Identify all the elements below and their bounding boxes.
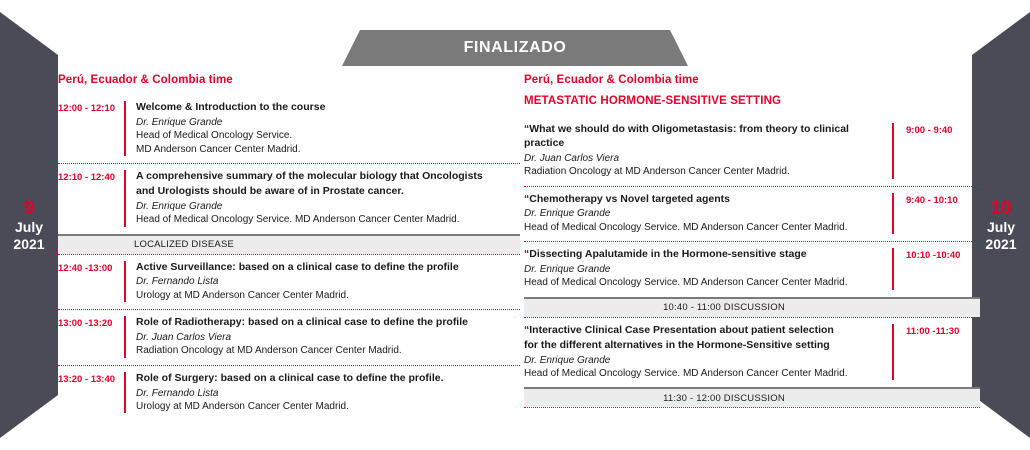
- session-title: Role of Surgery: based on a clinical cas…: [136, 372, 520, 386]
- date-year-right: 2021: [985, 236, 1016, 253]
- session-body: “What we should do with Oligometastasis:…: [524, 123, 892, 179]
- session-time: 9:40 - 10:10: [894, 193, 980, 235]
- session-row[interactable]: “Dissecting Apalutamide in the Hormone-s…: [524, 242, 980, 297]
- session-title: “Interactive Clinical Case Presentation …: [524, 324, 892, 338]
- day1-column: Perú, Ecuador & Colombia time 12:00 - 12…: [58, 74, 520, 420]
- session-body: Role of Radiotherapy: based on a clinica…: [136, 316, 520, 358]
- session-row[interactable]: 13:20 - 13:40 Role of Surgery: based on …: [58, 366, 520, 421]
- discussion-label: 10:40 - 11:00 DISCUSSION: [663, 302, 785, 313]
- session-speaker: Dr. Enrique Grande: [524, 263, 892, 276]
- day2-column: Perú, Ecuador & Colombia time METASTATIC…: [524, 74, 980, 408]
- session-row[interactable]: 12:00 - 12:10 Welcome & Introduction to …: [58, 95, 520, 163]
- session-row[interactable]: “Chemotherapy vs Novel targeted agents D…: [524, 187, 980, 242]
- session-time: 13:20 - 13:40: [58, 372, 124, 414]
- date-badge-left: 9 July 2021: [0, 0, 58, 450]
- date-day-left: 9: [24, 198, 35, 219]
- session-body: Welcome & Introduction to the course Dr.…: [136, 101, 520, 156]
- setting-heading: METASTATIC HORMONE-SENSITIVE SETTING: [524, 95, 980, 107]
- session-affiliation: Head of Medical Oncology Service. MD And…: [524, 221, 892, 234]
- discussion-label: 11:30 - 12:00 DISCUSSION: [663, 393, 785, 404]
- session-speaker: Dr. Enrique Grande: [136, 116, 520, 129]
- timezone-kicker-left: Perú, Ecuador & Colombia time: [58, 74, 520, 86]
- session-speaker: Dr. Juan Carlos Viera: [136, 331, 520, 344]
- session-row[interactable]: “Interactive Clinical Case Presentation …: [524, 318, 980, 388]
- session-title: “What we should do with Oligometastasis:…: [524, 123, 892, 151]
- accent-rule: [124, 316, 126, 358]
- session-title: “Chemotherapy vs Novel targeted agents: [524, 193, 892, 207]
- section-header-bar: LOCALIZED DISEASE: [58, 234, 520, 254]
- session-time: 12:10 - 12:40: [58, 170, 124, 227]
- agenda-canvas: 9 July 2021 10 July 2021 FINALIZADO Perú…: [0, 0, 1030, 450]
- session-affiliation: Head of Medical Oncology Service. MD And…: [524, 276, 892, 289]
- date-month-left: July: [15, 219, 43, 236]
- session-title: and Urologists should be aware of in Pro…: [136, 185, 520, 199]
- session-time: 12:00 - 12:10: [58, 101, 124, 156]
- date-year-left: 2021: [13, 236, 44, 253]
- session-title: “Dissecting Apalutamide in the Hormone-s…: [524, 248, 892, 262]
- session-speaker: Dr. Enrique Grande: [136, 200, 520, 213]
- session-speaker: Dr. Enrique Grande: [524, 354, 892, 367]
- session-speaker: Dr. Fernando Lista: [136, 387, 520, 400]
- date-day-right: 10: [990, 198, 1011, 219]
- session-speaker: Dr. Fernando Lista: [136, 275, 520, 288]
- discussion-bar: 11:30 - 12:00 DISCUSSION: [524, 387, 980, 407]
- session-affiliation: MD Anderson Cancer Center Madrid.: [136, 143, 520, 156]
- session-body: “Chemotherapy vs Novel targeted agents D…: [524, 193, 892, 235]
- session-time: 13:00 -13:20: [58, 316, 124, 358]
- session-speaker: Dr. Juan Carlos Viera: [524, 152, 892, 165]
- session-affiliation: Head of Medical Oncology Service.: [136, 129, 520, 142]
- accent-rule: [124, 372, 126, 414]
- date-month-right: July: [987, 219, 1015, 236]
- session-title: Role of Radiotherapy: based on a clinica…: [136, 316, 520, 330]
- session-time: 10:10 -10:40: [894, 248, 980, 290]
- session-time: 11:00 -11:30: [894, 324, 980, 381]
- session-affiliation: Radiation Oncology at MD Anderson Cancer…: [136, 344, 520, 357]
- session-affiliation: Radiation Oncology at MD Anderson Cancer…: [524, 165, 892, 178]
- discussion-bar: 10:40 - 11:00 DISCUSSION: [524, 297, 980, 317]
- session-title: for the different alternatives in the Ho…: [524, 339, 892, 353]
- session-affiliation: Urology at MD Anderson Cancer Center Mad…: [136, 289, 520, 302]
- session-affiliation: Urology at MD Anderson Cancer Center Mad…: [136, 400, 520, 413]
- session-speaker: Dr. Enrique Grande: [524, 207, 892, 220]
- session-body: “Dissecting Apalutamide in the Hormone-s…: [524, 248, 892, 290]
- session-title: Welcome & Introduction to the course: [136, 101, 520, 115]
- session-row[interactable]: 13:00 -13:20 Role of Radiotherapy: based…: [58, 310, 520, 365]
- session-time: 9:00 - 9:40: [894, 123, 980, 179]
- status-banner-label: FINALIZADO: [464, 39, 567, 57]
- session-time: 12:40 -13:00: [58, 261, 124, 303]
- session-body: A comprehensive summary of the molecular…: [136, 170, 520, 227]
- session-row[interactable]: 12:10 - 12:40 A comprehensive summary of…: [58, 164, 520, 234]
- status-banner: FINALIZADO: [342, 30, 688, 66]
- session-title: A comprehensive summary of the molecular…: [136, 170, 520, 184]
- session-body: Role of Surgery: based on a clinical cas…: [136, 372, 520, 414]
- session-title: Active Surveillance: based on a clinical…: [136, 261, 520, 275]
- session-body: Active Surveillance: based on a clinical…: [136, 261, 520, 303]
- timezone-kicker-right: Perú, Ecuador & Colombia time: [524, 74, 980, 86]
- session-affiliation: Head of Medical Oncology Service. MD And…: [136, 213, 520, 226]
- session-row[interactable]: 12:40 -13:00 Active Surveillance: based …: [58, 255, 520, 310]
- row-divider: [524, 407, 980, 408]
- accent-rule: [124, 170, 126, 227]
- accent-rule: [124, 261, 126, 303]
- session-body: “Interactive Clinical Case Presentation …: [524, 324, 892, 381]
- date-badge-right: 10 July 2021: [972, 0, 1030, 450]
- section-header-label: LOCALIZED DISEASE: [134, 239, 234, 250]
- session-row[interactable]: “What we should do with Oligometastasis:…: [524, 117, 980, 186]
- accent-rule: [124, 101, 126, 156]
- session-affiliation: Head of Medical Oncology Service. MD And…: [524, 367, 892, 380]
